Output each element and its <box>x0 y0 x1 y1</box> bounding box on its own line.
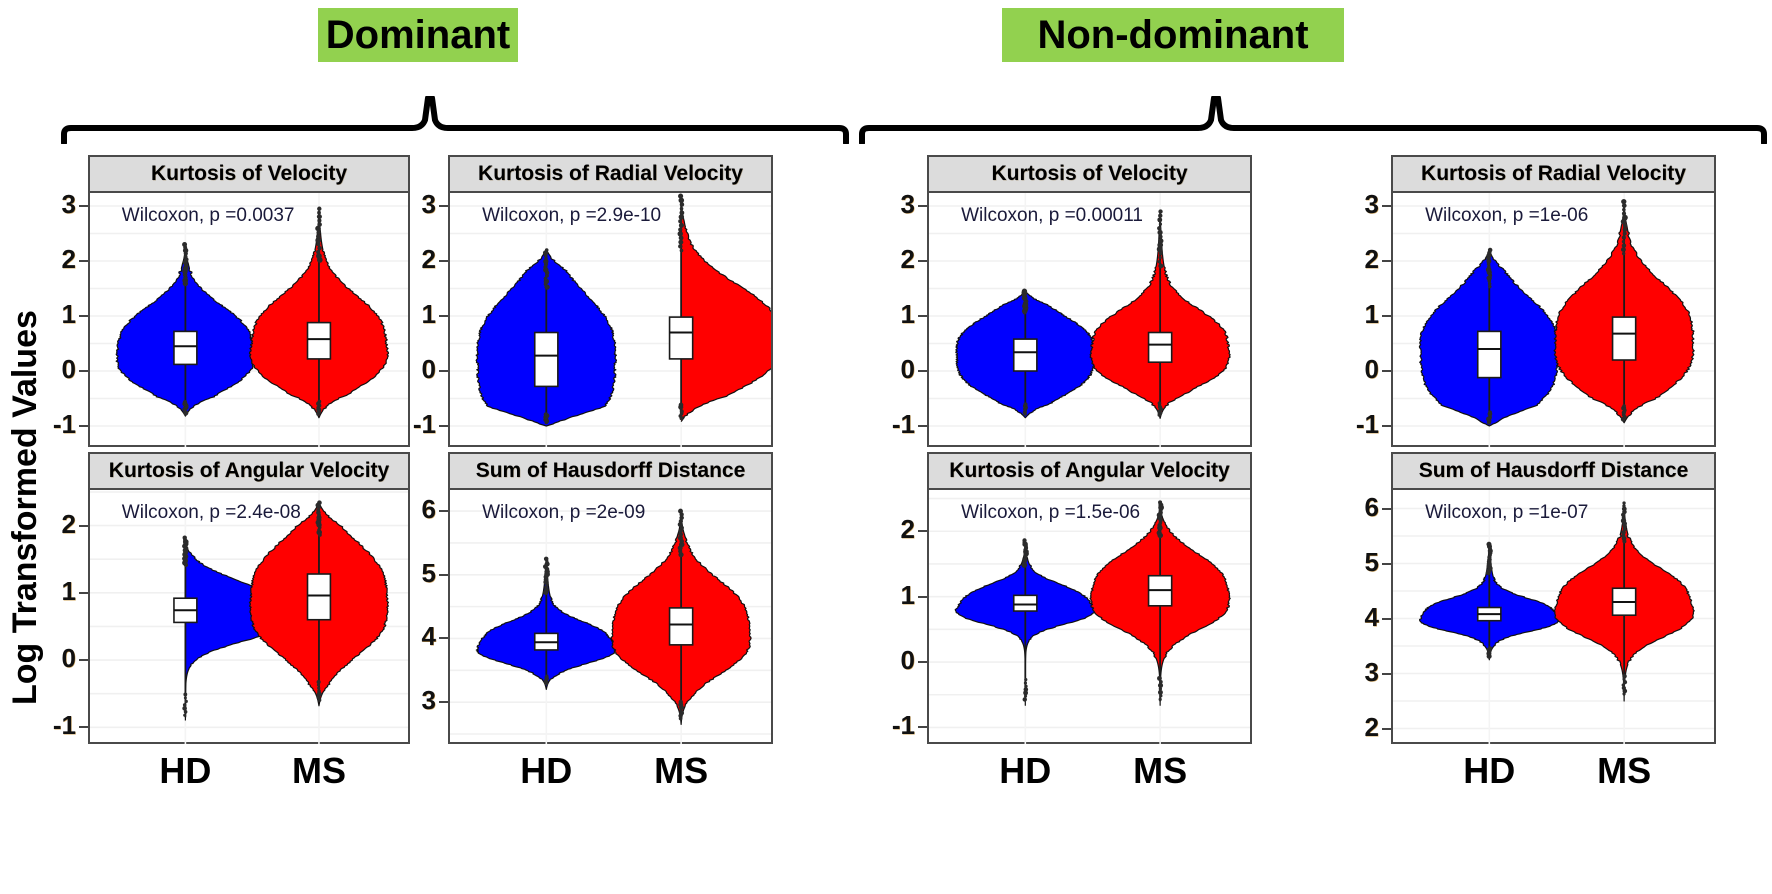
group-label-non-dominant: Non-dominant <box>1002 8 1344 62</box>
panel-title: Sum of Hausdorff Distance <box>1393 454 1714 490</box>
outlier-point <box>679 223 684 228</box>
y-tick-label: -1 <box>875 409 915 440</box>
y-tick-label: 3 <box>396 685 436 716</box>
box <box>308 574 331 620</box>
violin-ms <box>1554 199 1694 423</box>
p-value-annotation: Wilcoxon, p =2.9e-10 <box>482 205 661 227</box>
y-tick-mark <box>79 525 88 527</box>
group-label-non-dominant-text: Non-dominant <box>1037 15 1308 55</box>
y-tick-mark <box>439 315 448 317</box>
outlier-point <box>1158 260 1161 263</box>
y-tick-label: -1 <box>36 409 76 440</box>
y-tick-label: 1 <box>875 580 915 611</box>
panel-title: Kurtosis of Radial Velocity <box>450 157 771 193</box>
violin-svg <box>1393 490 1714 744</box>
box <box>1014 339 1037 371</box>
outlier-point <box>545 674 548 677</box>
y-tick-mark <box>1382 370 1391 372</box>
box <box>1014 595 1037 611</box>
outlier-point <box>183 703 187 707</box>
y-tick-mark <box>79 315 88 317</box>
y-tick-mark <box>1382 673 1391 675</box>
y-tick-mark <box>1382 618 1391 620</box>
p-value-annotation: Wilcoxon, p =2.4e-08 <box>122 502 301 524</box>
outlier-point <box>316 253 322 259</box>
outlier-point <box>1158 690 1163 695</box>
plot-area: Wilcoxon, p =1e-07 <box>1393 490 1714 744</box>
outlier-point <box>1622 243 1626 247</box>
outlier-point <box>1157 217 1162 222</box>
y-tick-mark <box>439 510 448 512</box>
panel-1: Kurtosis of VelocityWilcoxon, p =0.0037 <box>88 155 410 447</box>
y-tick-mark <box>1382 205 1391 207</box>
outlier-point <box>1622 208 1626 212</box>
violin-hd <box>116 242 254 416</box>
outlier-point <box>316 234 321 239</box>
outlier-point <box>1158 401 1162 405</box>
outlier-point <box>317 500 322 505</box>
panel-title: Kurtosis of Angular Velocity <box>90 454 408 490</box>
y-tick-label: -1 <box>875 710 915 741</box>
outlier-point <box>1622 215 1628 221</box>
box <box>1149 333 1172 363</box>
y-tick-mark <box>918 530 927 532</box>
outlier-point <box>184 696 187 699</box>
outlier-point <box>680 207 684 211</box>
y-tick-label: 3 <box>1339 189 1379 220</box>
panel-7: Kurtosis of Angular VelocityWilcoxon, p … <box>927 452 1252 744</box>
x-tick-label-ms: MS <box>1115 750 1205 792</box>
bracket-dominant <box>60 96 850 144</box>
outlier-point <box>679 210 684 215</box>
outlier-point <box>317 207 321 211</box>
outlier-point <box>1621 247 1626 252</box>
outlier-point <box>317 686 320 689</box>
panel-title: Kurtosis of Velocity <box>90 157 408 193</box>
x-tick-label-ms: MS <box>1579 750 1669 792</box>
p-value-annotation: Wilcoxon, p =0.0037 <box>122 205 295 227</box>
y-tick-mark <box>1382 728 1391 730</box>
outlier-point <box>182 242 187 247</box>
panel-4: Sum of Hausdorff DistanceWilcoxon, p =2e… <box>448 452 773 744</box>
plot-area: Wilcoxon, p =1.5e-06 <box>929 490 1250 744</box>
p-value-annotation: Wilcoxon, p =0.00011 <box>961 205 1143 227</box>
outlier-point <box>1622 252 1625 255</box>
outlier-point <box>679 403 684 408</box>
y-tick-mark <box>439 370 448 372</box>
outlier-point <box>544 557 549 562</box>
p-value-annotation: Wilcoxon, p =2e-09 <box>482 502 645 524</box>
y-tick-mark <box>918 260 927 262</box>
y-tick-label: 1 <box>1339 299 1379 330</box>
outlier-point <box>1158 500 1162 504</box>
plot-area: Wilcoxon, p =2.9e-10 <box>450 193 771 447</box>
outlier-point <box>1622 674 1626 678</box>
outlier-point <box>1022 538 1026 542</box>
y-tick-mark <box>79 260 88 262</box>
y-tick-label: 1 <box>36 299 76 330</box>
outlier-point <box>1023 402 1027 406</box>
y-tick-label: -1 <box>36 710 76 741</box>
y-tick-label: -1 <box>1339 409 1379 440</box>
y-tick-label: 3 <box>1339 657 1379 688</box>
x-tick-label-hd: HD <box>980 750 1070 792</box>
y-tick-mark <box>439 637 448 639</box>
violin-svg <box>90 193 408 447</box>
box <box>670 608 693 645</box>
y-tick-label: 2 <box>875 514 915 545</box>
outlier-point <box>1623 227 1628 232</box>
p-value-annotation: Wilcoxon, p =1.5e-06 <box>961 502 1140 524</box>
outlier-point <box>1158 256 1161 259</box>
outlier-point <box>183 536 187 540</box>
box <box>670 317 693 359</box>
bracket-dominant-svg <box>60 96 850 144</box>
x-tick-label-hd: HD <box>501 750 591 792</box>
outlier-point <box>1159 235 1163 239</box>
outlier-point <box>678 227 682 231</box>
outlier-point <box>678 194 683 199</box>
y-tick-mark <box>1382 425 1391 427</box>
p-value-annotation: Wilcoxon, p =1e-06 <box>1425 205 1588 227</box>
y-tick-label: 5 <box>1339 547 1379 578</box>
violin-svg <box>929 193 1250 447</box>
y-tick-label: 0 <box>396 354 436 385</box>
y-tick-mark <box>79 659 88 661</box>
outlier-point <box>1622 236 1626 240</box>
outlier-point <box>1622 212 1626 216</box>
y-tick-label: 2 <box>396 244 436 275</box>
y-tick-mark <box>439 205 448 207</box>
outlier-point <box>678 509 683 514</box>
y-tick-label: 2 <box>875 244 915 275</box>
outlier-point <box>1623 232 1627 236</box>
y-tick-mark <box>79 592 88 594</box>
y-tick-label: 4 <box>1339 602 1379 633</box>
outlier-point <box>1024 687 1029 692</box>
x-tick-label-hd: HD <box>1444 750 1534 792</box>
violin-svg <box>450 193 771 447</box>
x-tick-label-ms: MS <box>636 750 726 792</box>
box <box>535 333 558 387</box>
outlier-point <box>1488 410 1492 414</box>
outlier-point <box>1158 263 1163 268</box>
y-tick-label: 2 <box>1339 244 1379 275</box>
outlier-point <box>678 240 683 245</box>
y-tick-label: 4 <box>396 621 436 652</box>
violin-hd <box>1419 248 1559 426</box>
outlier-point <box>1022 289 1027 294</box>
outlier-point <box>183 693 187 697</box>
outlier-point <box>316 250 320 254</box>
outlier-point <box>545 248 549 252</box>
outlier-point <box>1024 685 1027 688</box>
y-tick-mark <box>79 425 88 427</box>
violin-svg <box>1393 193 1714 447</box>
y-tick-label: 3 <box>36 189 76 220</box>
outlier-point <box>318 400 322 404</box>
y-tick-label: 6 <box>1339 492 1379 523</box>
y-tick-label: -1 <box>396 409 436 440</box>
panel-5: Kurtosis of VelocityWilcoxon, p =0.00011 <box>927 155 1252 447</box>
panel-title: Kurtosis of Angular Velocity <box>929 454 1250 490</box>
y-tick-label: 3 <box>396 189 436 220</box>
y-tick-mark <box>1382 260 1391 262</box>
y-tick-mark <box>918 315 927 317</box>
outlier-point <box>1158 238 1163 243</box>
outlier-point <box>183 714 186 717</box>
violin-ms <box>670 194 771 422</box>
y-tick-label: 1 <box>875 299 915 330</box>
y-tick-label: 3 <box>875 189 915 220</box>
outlier-point <box>1622 501 1625 504</box>
panel-2: Kurtosis of Radial VelocityWilcoxon, p =… <box>448 155 773 447</box>
bracket-non-dominant-svg <box>858 96 1768 144</box>
violin-ms <box>249 207 388 418</box>
y-tick-mark <box>918 661 927 663</box>
y-tick-mark <box>1382 508 1391 510</box>
y-tick-mark <box>918 596 927 598</box>
violin-shape <box>681 197 771 421</box>
plot-area: Wilcoxon, p =0.00011 <box>929 193 1250 447</box>
group-label-dominant: Dominant <box>318 8 518 62</box>
p-value-annotation: Wilcoxon, p =1e-07 <box>1425 502 1588 524</box>
violin-ms <box>249 500 388 705</box>
violin-ms <box>1090 209 1230 418</box>
y-tick-label: 0 <box>1339 354 1379 385</box>
outlier-point <box>183 400 187 404</box>
outlier-point <box>678 244 682 248</box>
y-tick-mark <box>79 370 88 372</box>
y-tick-label: 2 <box>36 244 76 275</box>
outlier-point <box>1622 504 1625 507</box>
violin-hd <box>476 557 616 690</box>
violin-hd <box>476 248 616 426</box>
outlier-point <box>680 249 684 253</box>
panel-3: Kurtosis of Angular VelocityWilcoxon, p … <box>88 452 410 744</box>
y-tick-mark <box>79 726 88 728</box>
panel-8: Sum of Hausdorff DistanceWilcoxon, p =1e… <box>1391 452 1716 744</box>
violin-svg <box>929 490 1250 744</box>
y-tick-label: 0 <box>875 645 915 676</box>
y-tick-label: 0 <box>36 354 76 385</box>
panel-title: Sum of Hausdorff Distance <box>450 454 771 490</box>
y-tick-mark <box>439 425 448 427</box>
outlier-point <box>182 706 187 711</box>
y-tick-label: 2 <box>1339 712 1379 743</box>
y-tick-label: 1 <box>36 576 76 607</box>
outlier-point <box>1488 646 1492 650</box>
plot-area: Wilcoxon, p =0.0037 <box>90 193 408 447</box>
y-tick-mark <box>918 726 927 728</box>
outlier-point <box>544 412 548 416</box>
outlier-point <box>1159 698 1162 701</box>
bracket-non-dominant <box>858 96 1768 144</box>
outlier-point <box>679 700 683 704</box>
y-tick-mark <box>1382 563 1391 565</box>
group-label-dominant-text: Dominant <box>326 15 510 55</box>
y-tick-label: 2 <box>36 509 76 540</box>
y-tick-label: 6 <box>396 494 436 525</box>
outlier-point <box>1157 230 1162 235</box>
y-tick-mark <box>918 425 927 427</box>
outlier-point <box>1023 697 1027 701</box>
outlier-point <box>1024 681 1027 684</box>
outlier-point <box>1621 199 1626 204</box>
x-tick-label-hd: HD <box>140 750 230 792</box>
violin-svg <box>450 490 771 744</box>
plot-area: Wilcoxon, p =2.4e-08 <box>90 490 408 744</box>
violin-ms <box>1554 501 1694 701</box>
outlier-point <box>678 231 683 236</box>
outlier-point <box>1157 226 1161 230</box>
outlier-point <box>1159 222 1162 225</box>
y-tick-mark <box>918 205 927 207</box>
x-tick-label-ms: MS <box>274 750 364 792</box>
plot-area: Wilcoxon, p =1e-06 <box>1393 193 1714 447</box>
y-tick-label: 5 <box>396 558 436 589</box>
panel-title: Kurtosis of Radial Velocity <box>1393 157 1714 193</box>
outlier-point <box>317 211 321 215</box>
outlier-point <box>678 219 682 223</box>
y-tick-mark <box>1382 315 1391 317</box>
y-tick-mark <box>79 205 88 207</box>
outlier-point <box>1486 542 1491 547</box>
y-tick-mark <box>439 574 448 576</box>
y-tick-mark <box>918 370 927 372</box>
outlier-point <box>1622 404 1626 408</box>
outlier-point <box>1488 248 1493 253</box>
violin-svg <box>90 490 408 744</box>
panel-6: Kurtosis of Radial VelocityWilcoxon, p =… <box>1391 155 1716 447</box>
outlier-point <box>1024 678 1027 681</box>
outlier-point <box>1158 209 1162 213</box>
outlier-point <box>317 680 321 684</box>
outlier-point <box>185 700 188 703</box>
outlier-point <box>317 246 321 250</box>
panel-title: Kurtosis of Velocity <box>929 157 1250 193</box>
y-tick-label: 0 <box>875 354 915 385</box>
box <box>1478 331 1501 377</box>
box <box>1613 317 1636 360</box>
y-tick-label: 1 <box>396 299 436 330</box>
violin-ms <box>611 509 751 725</box>
outlier-point <box>317 689 321 693</box>
outlier-point <box>1158 214 1162 218</box>
outlier-point <box>317 214 322 219</box>
outlier-point <box>1157 676 1162 681</box>
box <box>174 331 197 364</box>
y-tick-mark <box>439 701 448 703</box>
y-tick-label: 0 <box>36 643 76 674</box>
plot-area: Wilcoxon, p =2e-09 <box>450 490 771 744</box>
box <box>308 323 331 359</box>
violin-hd <box>1420 542 1559 660</box>
y-tick-mark <box>439 260 448 262</box>
outlier-point <box>317 222 322 227</box>
outlier-point <box>1622 240 1625 243</box>
